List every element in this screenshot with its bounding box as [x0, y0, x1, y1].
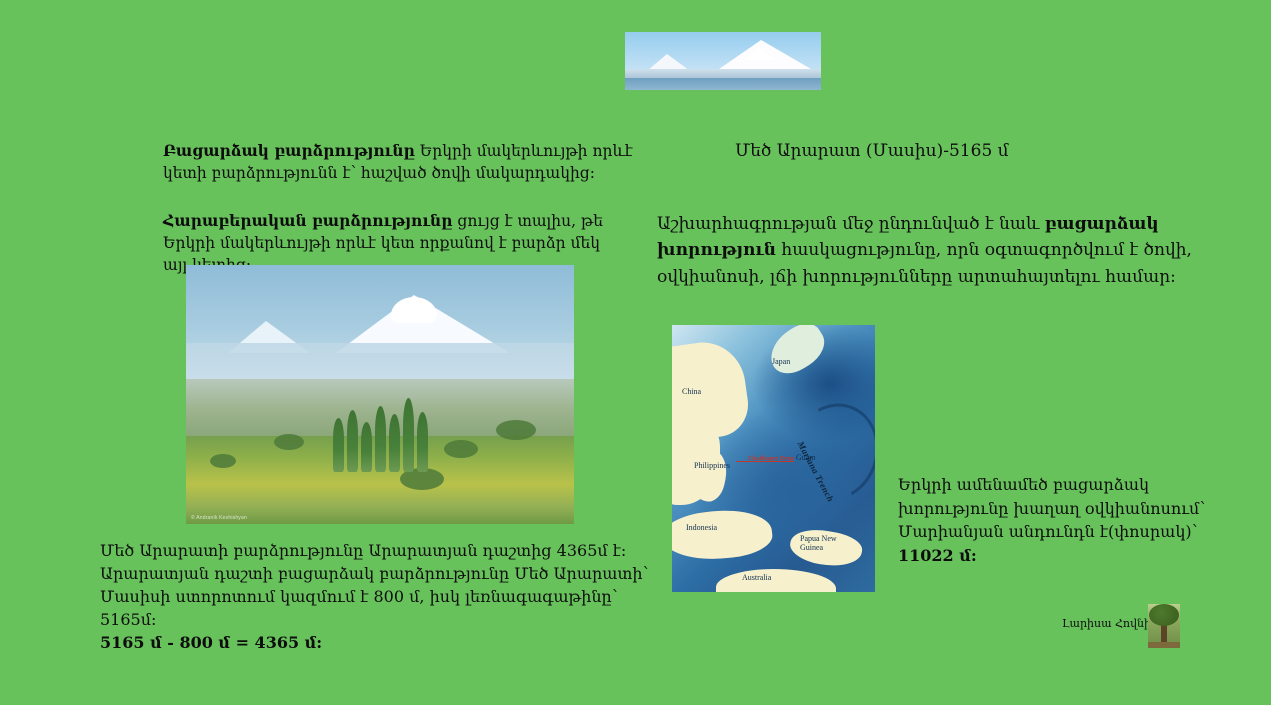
map-label-australia: Australia — [742, 573, 771, 582]
ararat-landscape-photo: © Andranik Keshishyan — [186, 265, 574, 524]
author-thumbnail-photo — [1148, 604, 1180, 648]
thumbnail-tree-canopy — [1149, 604, 1179, 626]
map-label-challenger-deep: Challenger Deep — [748, 455, 794, 462]
depth-text-part1: Աշխարհագրության մեջ ընդունված է նաև — [657, 214, 1045, 234]
photo-bush — [210, 454, 236, 468]
banner-summit-cap — [745, 47, 775, 60]
photo-bush — [274, 434, 304, 450]
photo-credit: © Andranik Keshishyan — [191, 515, 247, 521]
mariana-depth-paragraph: Երկրի ամենամեծ բացարձակ խորությունը խաղա… — [898, 473, 1228, 568]
mariana-line-3: Մարիանյան անդունդն է(փոսրակ)՝ — [898, 520, 1228, 544]
mariana-depth-value: 11022 մ: — [898, 546, 977, 565]
relative-height-term: Հարաբերական բարձրությունը — [163, 211, 453, 230]
photo-poplar-trees — [331, 396, 431, 472]
map-label-philippines: Philippines — [694, 461, 730, 470]
mariana-trench-map: China Japan Philippines Guam Indonesia P… — [672, 325, 875, 592]
map-label-china: China — [682, 387, 701, 396]
ararat-panorama-banner — [625, 32, 821, 90]
photo-bush — [444, 440, 478, 458]
calc-line-3: Մասիսի ստորոտում կազմում է 800 մ, իսկ լե… — [100, 585, 670, 631]
calc-line-2: Արարատյան դաշտի բացարձակ բարձրությունը Մ… — [100, 562, 670, 585]
photo-bush — [496, 420, 536, 440]
ararat-caption: Մեծ Արարատ (Մասիս)-5165 մ — [735, 139, 1065, 163]
calc-equation: 5165 մ - 800 մ = 4365 մ: — [100, 633, 322, 652]
presentation-slide: Բացարձակ բարձրությունը Երկրի մակերևույթի… — [0, 0, 1271, 705]
map-label-indonesia: Indonesia — [686, 523, 717, 532]
ararat-calculation-paragraph: Մեծ Արարատի բարձրությունը Արարատյան դաշտ… — [100, 539, 670, 654]
thumbnail-ground — [1148, 642, 1180, 648]
absolute-height-term: Բացարձակ բարձրությունը — [163, 141, 415, 160]
mariana-line-2: խորությունը խաղաղ օվկիանոսում՝ — [898, 497, 1228, 521]
absolute-height-paragraph: Բացարձակ բարձրությունը Երկրի մակերևույթի… — [163, 140, 643, 184]
mariana-line-1: Երկրի ամենամեծ բացարձակ — [898, 473, 1228, 497]
map-label-papua-new-guinea: Papua New Guinea — [800, 535, 840, 553]
map-label-japan: Japan — [772, 357, 790, 366]
absolute-depth-paragraph: Աշխարհագրության մեջ ընդունված է նաև բացա… — [657, 211, 1257, 290]
banner-water — [625, 78, 821, 90]
calc-line-1: Մեծ Արարատի բարձրությունը Արարատյան դաշտ… — [100, 539, 670, 562]
